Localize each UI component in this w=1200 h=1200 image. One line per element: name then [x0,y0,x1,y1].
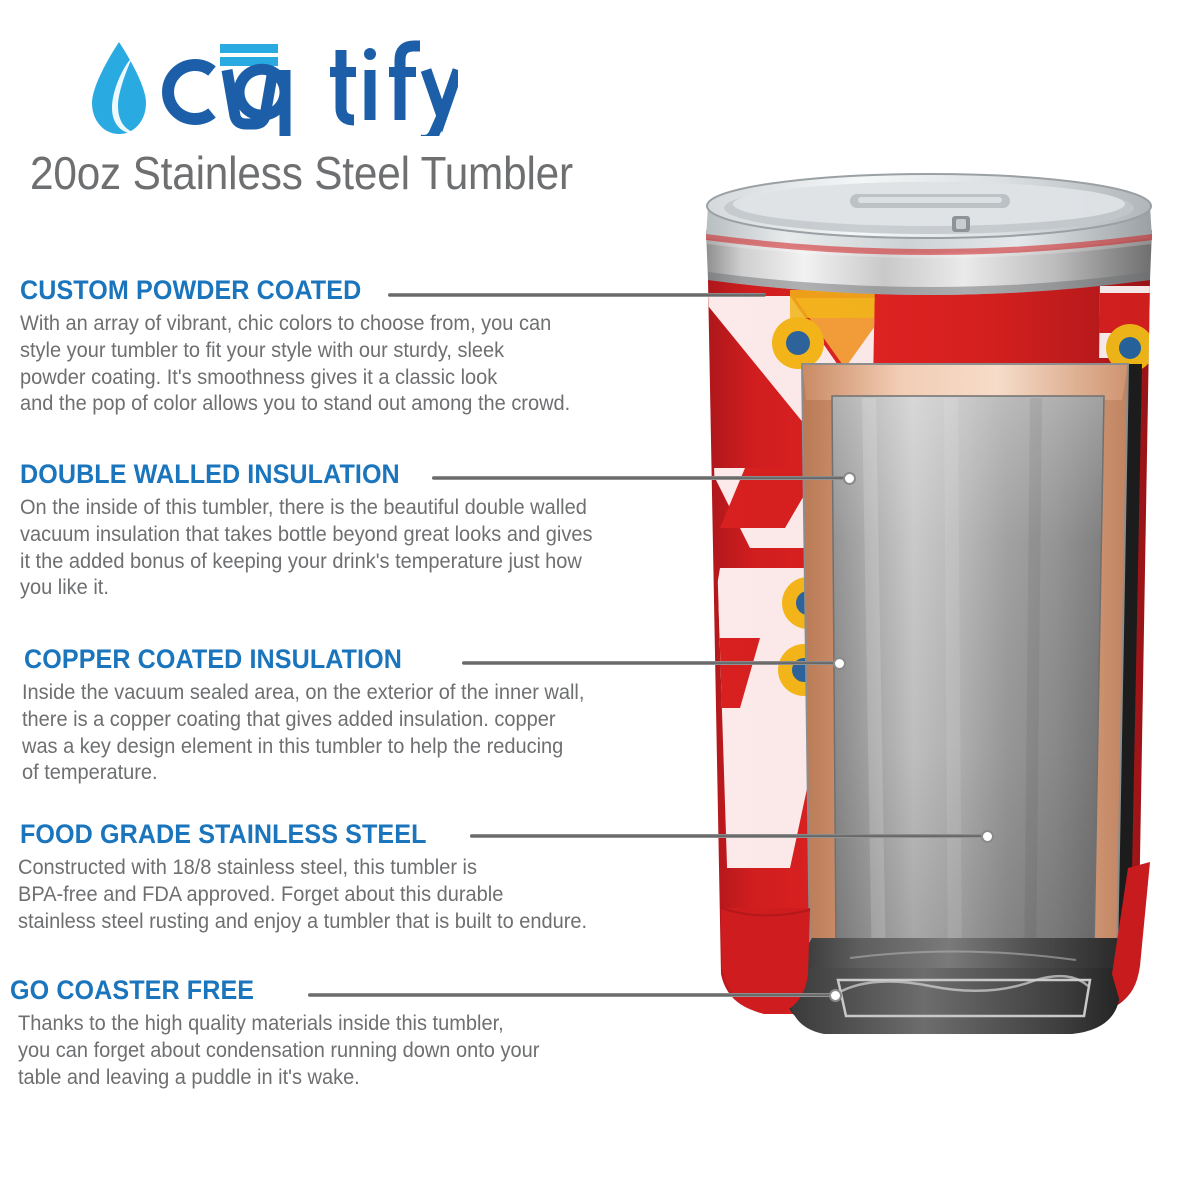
feature-custom-powder-coated: CUSTOM POWDER COATED With an array of vi… [20,276,710,417]
clear-plastic-lid [706,174,1152,255]
feature-body: Inside the vacuum sealed area, on the ex… [22,679,666,786]
feature-heading: DOUBLE WALLED INSULATION [20,460,662,488]
feature-body: Constructed with 18/8 stainless steel, t… [18,854,662,934]
feature-heading: CUSTOM POWDER COATED [20,276,662,304]
leader-line-food-grade-stainless-steel [470,834,990,838]
leader-line-custom-powder-coated [388,293,766,297]
leader-line-copper-coated-insulation [462,661,842,665]
feature-body: Thanks to the high quality materials ins… [18,1010,652,1090]
feature-copper-coated-insulation: COPPER COATED INSULATION Inside the vacu… [24,645,714,786]
feature-body: With an array of vibrant, chic colors to… [20,310,662,417]
infographic-page: 20oz Stainless Steel Tumbler CUSTOM POWD… [0,0,1200,1200]
tumbler-cutaway-illustration [690,168,1190,1068]
leader-line-go-coaster-free [308,993,838,997]
feature-list: CUSTOM POWDER COATED With an array of vi… [0,0,700,1200]
stainless-steel-inner-wall [832,396,1104,980]
leader-line-double-walled-insulation [432,476,852,480]
non-slip-base [782,938,1130,1034]
feature-heading: COPPER COATED INSULATION [24,645,666,673]
feature-heading: GO COASTER FREE [10,976,652,1004]
feature-body: On the inside of this tumbler, there is … [20,494,662,601]
feature-double-walled-insulation: DOUBLE WALLED INSULATION On the inside o… [20,460,710,601]
